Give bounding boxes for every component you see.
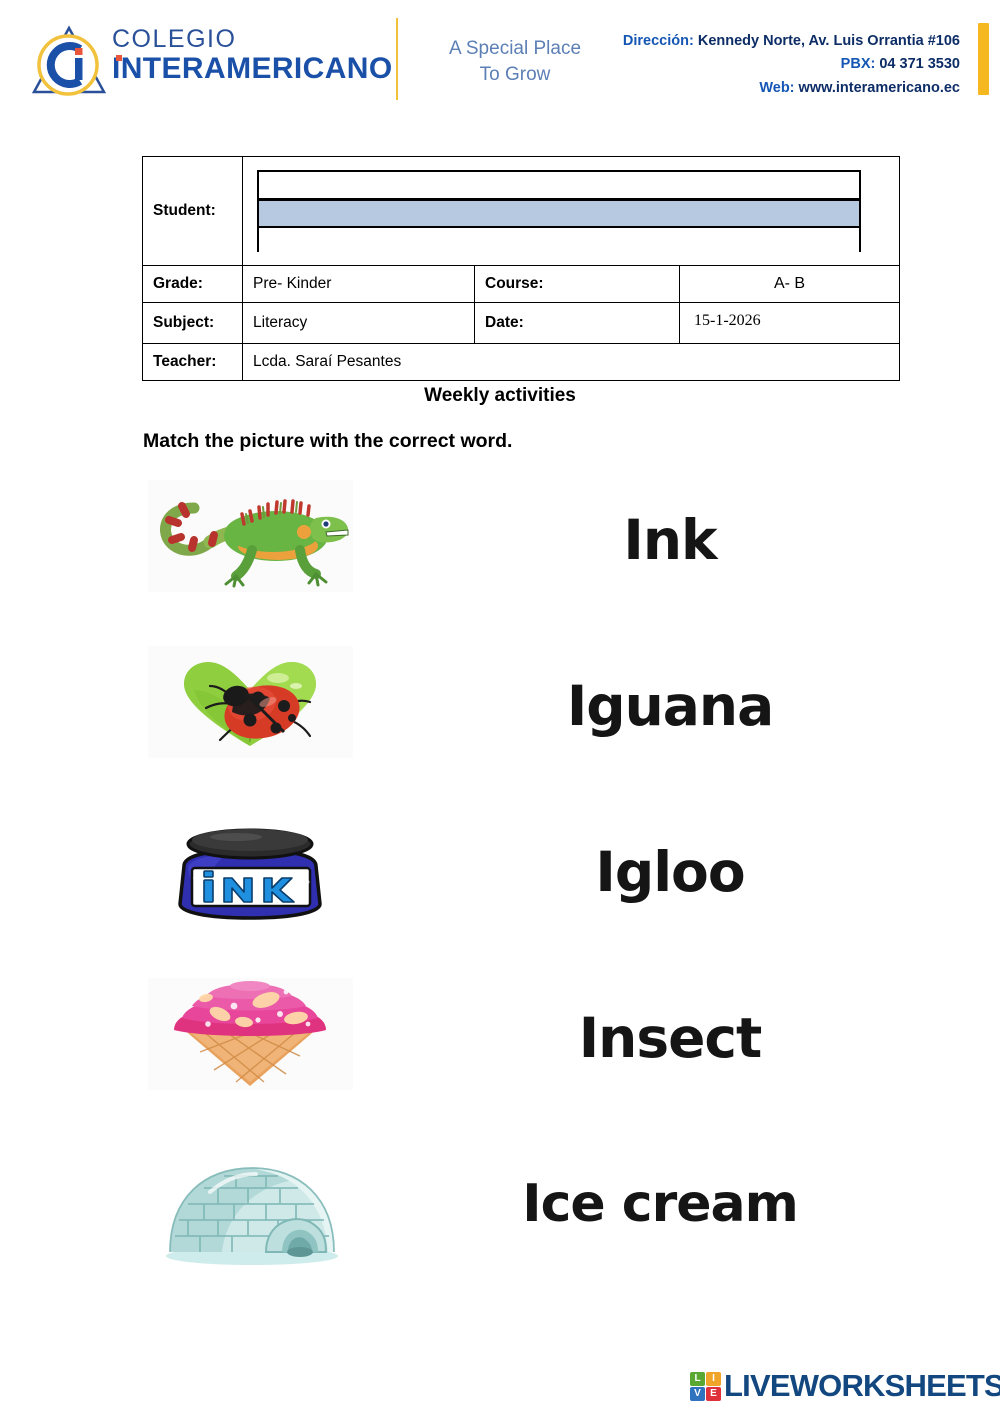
school-logo-text: COLEGIO INTERAMERICANO [112,27,393,84]
logo-interamericano-label: INTERAMERICANO [112,52,393,85]
header-accent-bar [978,23,989,95]
tagline-line-1: A Special Place [420,36,610,62]
matching-exercise: Ink [0,480,1000,1310]
word-option[interactable]: Insect [430,978,910,1098]
contact-address-label: Dirección: [623,33,694,49]
word-option[interactable]: Ice cream [400,1144,920,1264]
word-label-ice-cream: Ice cream [522,1174,798,1234]
contact-web-value: www.interamericano.ec [799,80,960,96]
word-option[interactable]: Ink [430,480,910,600]
logo-i-dot-icon [116,55,122,61]
school-tagline: A Special Place To Grow [420,36,610,87]
match-row: Iguana [0,646,1000,812]
word-label-igloo: Igloo [595,840,744,904]
date-label: Date: [475,303,680,344]
page-header: COLEGIO INTERAMERICANO A Special Place T… [0,0,1000,120]
word-label-iguana: Iguana [567,674,773,738]
contact-address-row: Dirección: Kennedy Norte, Av. Luis Orran… [623,30,960,53]
student-info-table: Student: Grade: Pre- Kinder Course: A- B… [142,156,900,381]
lw-square-l: L [690,1372,705,1386]
ink-bottle-picture[interactable] [148,812,353,932]
course-value: A- B [680,266,900,303]
course-label: Course: [475,266,680,303]
student-field-band-highlight [259,201,859,228]
match-row: Ink [0,480,1000,646]
logo-line-colegio: COLEGIO [112,27,393,52]
word-label-insect: Insect [579,1006,762,1070]
ice-cream-picture[interactable] [148,978,353,1098]
lw-square-v: V [690,1387,705,1401]
date-value: 15-1-2026 [680,303,900,344]
worksheet-instruction: Match the picture with the correct word. [143,430,512,453]
teacher-label: Teacher: [143,344,243,381]
table-row-grade-course: Grade: Pre- Kinder Course: A- B [143,266,900,303]
student-field-band-bottom [259,228,859,252]
tagline-line-2: To Grow [420,62,610,88]
grade-value: Pre- Kinder [243,266,475,303]
table-row-teacher: Teacher: Lcda. Saraí Pesantes [143,344,900,381]
table-row-subject-date: Subject: Literacy Date: 15-1-2026 [143,303,900,344]
table-row-student: Student: [143,157,900,266]
header-divider [396,18,398,100]
liveworksheets-squares-icon: L I V E [690,1372,721,1401]
contact-web-row: Web: www.interamericano.ec [623,77,960,100]
iguana-picture[interactable] [148,480,353,600]
subject-label: Subject: [143,303,243,344]
subject-value: Literacy [243,303,475,344]
word-option[interactable]: Iguana [430,646,910,766]
logo-line-interamericano: INTERAMERICANO [112,54,393,84]
liveworksheets-logo[interactable]: L I V E LIVEWORKSHEETS [690,1368,1000,1404]
lw-square-e: E [706,1387,721,1401]
liveworksheets-brand-text: LIVEWORKSHEETS [724,1368,1000,1404]
contact-address-value: Kennedy Norte, Av. Luis Orrantia #106 [698,33,960,49]
contact-web-label: Web: [759,80,794,96]
word-option[interactable]: Igloo [430,812,910,932]
student-label: Student: [143,157,243,266]
ladybug-insect-picture[interactable] [148,646,353,766]
grade-label: Grade: [143,266,243,303]
match-row: Insect [0,978,1000,1144]
contact-pbx-row: PBX: 04 371 3530 [623,53,960,76]
match-row: Ice cream [0,1144,1000,1310]
worksheet-title: Weekly activities [0,385,1000,407]
igloo-picture[interactable] [148,1152,353,1272]
contact-pbx-value: 04 371 3530 [879,56,960,72]
word-label-ink: Ink [623,508,716,572]
teacher-value: Lcda. Saraí Pesantes [243,344,900,381]
lw-square-i: I [706,1372,721,1386]
student-name-field[interactable] [257,170,861,252]
student-value-cell[interactable] [243,157,900,266]
school-logo-icon [30,22,108,100]
match-row: Igloo [0,812,1000,978]
student-field-band-top [259,172,859,201]
school-contact-info: Dirección: Kennedy Norte, Av. Luis Orran… [623,30,960,100]
contact-pbx-label: PBX: [841,56,876,72]
